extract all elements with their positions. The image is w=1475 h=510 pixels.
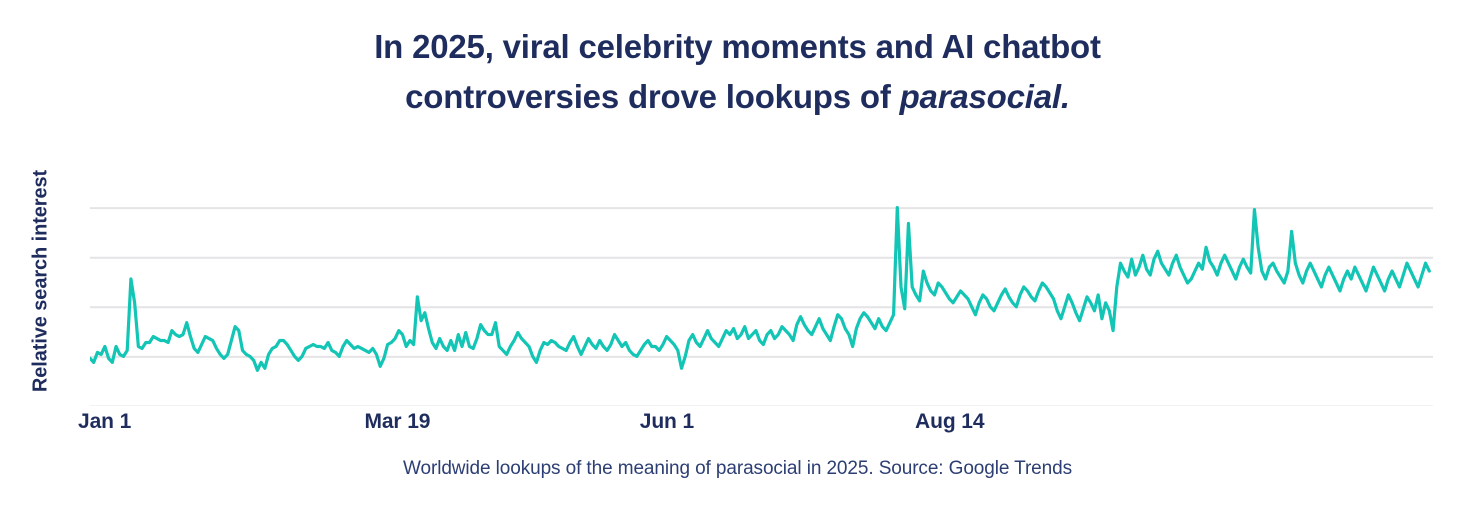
chart-title-line-2: controversies drove lookups of parasocia… [0,72,1475,122]
x-axis-tick-label: Aug 14 [915,410,984,434]
x-axis-tick-label: Mar 19 [364,410,430,434]
chart-title-emphasis-word: parasocial. [900,78,1070,115]
series-line [90,208,1429,371]
x-axis-ticks: Jan 1Mar 19Jun 1Aug 14 [90,410,1433,444]
chart-figure: In 2025, viral celebrity moments and AI … [0,0,1475,510]
chart-caption: Worldwide lookups of the meaning of para… [0,458,1475,480]
series-group [90,208,1429,371]
gridlines-group [90,208,1433,406]
chart-title-line-1: In 2025, viral celebrity moments and AI … [0,22,1475,72]
x-axis-tick-label: Jan 1 [78,410,131,434]
line-chart-svg [90,158,1433,406]
x-axis-tick-label: Jun 1 [640,410,694,434]
y-axis-label-container: Relative search interest [24,148,58,414]
plot-area [90,158,1433,406]
chart-title: In 2025, viral celebrity moments and AI … [0,22,1475,122]
chart-title-line-2-prefix: controversies drove lookups of [405,78,899,115]
y-axis-label: Relative search interest [30,170,53,392]
